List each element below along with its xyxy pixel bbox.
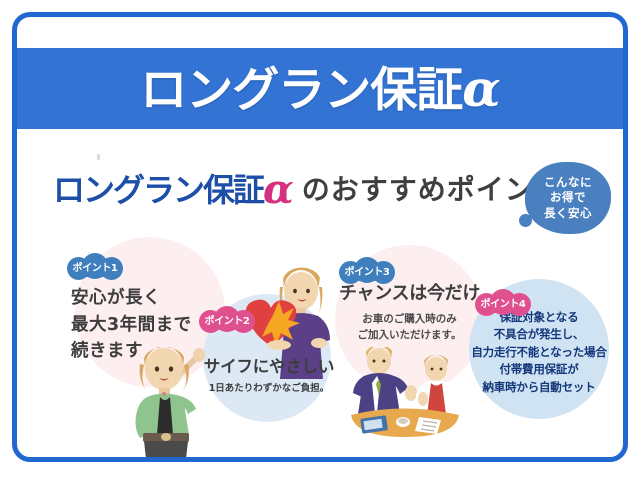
callout-line-1: こんなに <box>544 175 592 190</box>
point-3-sub-line-1: お車のご購入時のみ <box>339 311 480 327</box>
subtitle: ロングラン保証αのおすすめポイント <box>53 167 553 213</box>
banner-title: ロングラン保証α <box>140 64 499 114</box>
point-1-badge-label: ポイント1 <box>67 253 123 280</box>
callout-line-2: お得で <box>550 190 586 205</box>
point-3-subtext: お車のご購入時のみ ご加入いただけます。 <box>339 311 480 344</box>
point-4-badge-label: ポイント4 <box>475 289 531 316</box>
callout-line-3: 長く安心 <box>544 206 592 221</box>
woman-waving-illustration <box>123 347 209 459</box>
point-4-line-4: 付帯費用保証が <box>469 361 609 378</box>
point-3-heading: チャンスは今だけ <box>339 283 480 306</box>
callout-bubble: こんなに お得で 長く安心 <box>525 162 611 234</box>
warranty-poster: ロングラン保証α ロングラン保証αのおすすめポイント こんなに お得で 長く安心… <box>0 0 640 480</box>
point-3-badge-label: ポイント3 <box>339 257 395 284</box>
point-3-text-block: チャンスは今だけ お車のご購入時のみ ご加入いただけます。 <box>339 283 480 343</box>
point-2-subtext: 1日あたりわずかなご負担。 <box>203 382 335 395</box>
subtitle-brand-text: ロングラン保証 <box>53 174 263 206</box>
subtitle-alpha-symbol: α <box>263 170 294 210</box>
poster-frame: ロングラン保証α ロングラン保証αのおすすめポイント こんなに お得で 長く安心… <box>12 12 628 462</box>
point-2-badge-label: ポイント2 <box>199 306 255 333</box>
point-3-badge: ポイント3 <box>339 257 395 284</box>
scan-artifact-speck <box>97 154 100 160</box>
point-1-badge: ポイント1 <box>67 253 123 280</box>
value-callout: こんなに お得で 長く安心 <box>525 162 611 244</box>
banner-brand-text: ロングラン保証 <box>140 63 462 118</box>
subtitle-rest-text: のおすすめポイント <box>302 176 563 204</box>
point-2-badge: ポイント2 <box>199 306 255 333</box>
point-1-line-2: 最大3年間まで <box>71 312 192 339</box>
couple-at-table-illustration <box>337 347 471 443</box>
point-1-line-1: 安心が長く <box>71 285 192 312</box>
point-2-heading: サイフにやさしい <box>203 357 335 378</box>
point-2-text-block: サイフにやさしい 1日あたりわずかなご負担。 <box>203 357 335 395</box>
banner-alpha-symbol: α <box>462 59 499 118</box>
point-4-badge: ポイント4 <box>475 289 531 316</box>
point-3-sub-line-2: ご加入いただけます。 <box>339 327 480 343</box>
banner: ロングラン保証α <box>17 48 623 129</box>
point-4-line-5: 納車時から自動セット <box>469 379 609 396</box>
point-4-line-3: 自力走行不能となった場合 <box>469 344 609 361</box>
point-4-text-block: 保証対象となる 不具合が発生し、 自力走行不能となった場合 付帯費用保証が 納車… <box>469 309 609 396</box>
point-4-line-2: 不具合が発生し、 <box>469 326 609 343</box>
